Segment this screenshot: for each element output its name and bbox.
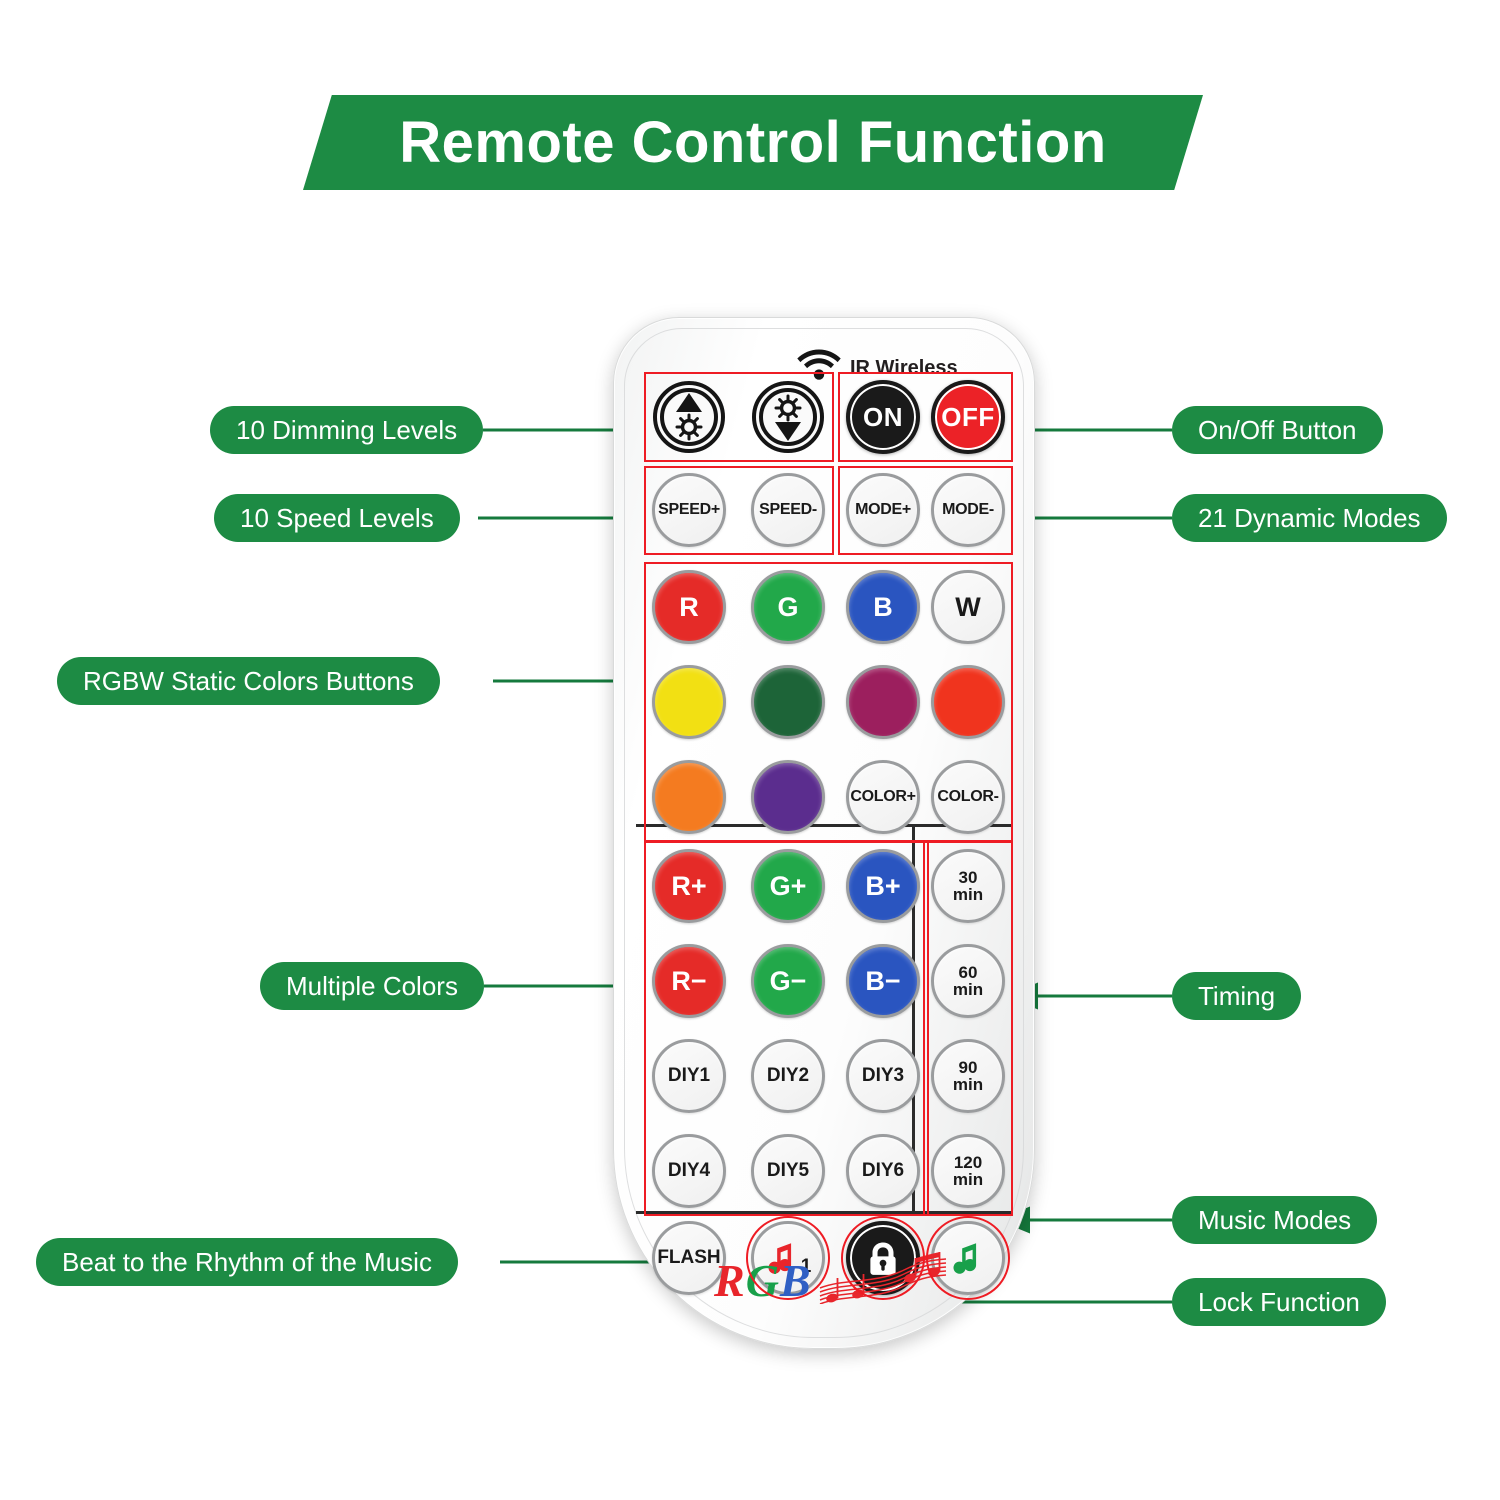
button-r-plus[interactable]: R+ [652, 849, 726, 923]
button-color-green[interactable]: G [751, 570, 825, 644]
callout-timing-label: Timing [1198, 981, 1275, 1012]
button-diy6-label: DIY6 [862, 1160, 904, 1182]
button-diy3-label: DIY3 [862, 1065, 904, 1087]
page-title: Remote Control Function [399, 109, 1106, 176]
button-diy5[interactable]: DIY5 [751, 1134, 825, 1208]
callout-lock-label: Lock Function [1198, 1287, 1360, 1318]
button-flash-label: FLASH [657, 1247, 720, 1269]
button-timer-30[interactable]: 30 min [931, 849, 1005, 923]
button-brightness-down[interactable] [751, 380, 825, 454]
button-power-on[interactable]: ON [846, 380, 920, 454]
callout-static-colors-label: RGBW Static Colors Buttons [83, 666, 414, 697]
button-diy4[interactable]: DIY4 [652, 1134, 726, 1208]
button-g-plus[interactable]: G+ [751, 849, 825, 923]
button-diy5-label: DIY5 [767, 1160, 809, 1182]
button-mode-up[interactable]: MODE+ [846, 473, 920, 547]
button-timer-90-unit: min [953, 1076, 983, 1093]
button-b-plus-label: B+ [865, 871, 900, 902]
button-speed-up-label: SPEED+ [658, 501, 720, 519]
button-timer-90[interactable]: 90 min [931, 1039, 1005, 1113]
button-timer-90-value: 90 [959, 1059, 978, 1076]
callout-music-modes-label: Music Modes [1198, 1205, 1351, 1236]
button-timer-60-unit: min [953, 981, 983, 998]
button-timer-60-value: 60 [959, 964, 978, 981]
button-power-on-label: ON [863, 402, 903, 433]
button-r-minus[interactable]: R− [652, 944, 726, 1018]
rgb-brand-logo: RGB [714, 1254, 812, 1307]
title-banner: Remote Control Function [303, 95, 1203, 190]
callout-multiple-colors-label: Multiple Colors [286, 971, 458, 1002]
button-color-red[interactable]: R [652, 570, 726, 644]
button-diy4-label: DIY4 [668, 1160, 710, 1182]
button-color-dark-green[interactable] [751, 665, 825, 739]
button-timer-120[interactable]: 120 min [931, 1134, 1005, 1208]
button-power-off-label: OFF [941, 402, 995, 433]
callout-music-modes: Music Modes [1172, 1196, 1377, 1244]
button-diy2-label: DIY2 [767, 1065, 809, 1087]
button-diy2[interactable]: DIY2 [751, 1039, 825, 1113]
button-timer-120-value: 120 [954, 1154, 982, 1171]
musical-staff-icon [818, 1248, 948, 1304]
button-r-plus-label: R+ [671, 871, 706, 902]
brightness-down-icon [751, 380, 825, 454]
callout-dynamic-modes: 21 Dynamic Modes [1172, 494, 1447, 542]
button-g-plus-label: G+ [770, 871, 807, 902]
button-timer-120-unit: min [953, 1171, 983, 1188]
button-color-yellow[interactable] [652, 665, 726, 739]
callout-dynamic-modes-label: 21 Dynamic Modes [1198, 503, 1421, 534]
button-power-off[interactable]: OFF [931, 380, 1005, 454]
button-color-up-label: COLOR+ [850, 788, 915, 806]
button-mode-down-label: MODE- [942, 501, 994, 519]
button-brightness-up[interactable] [652, 380, 726, 454]
button-color-green-label: G [777, 592, 798, 623]
button-speed-down[interactable]: SPEED- [751, 473, 825, 547]
button-color-up[interactable]: COLOR+ [846, 760, 920, 834]
infographic-root: Remote Control Function [0, 0, 1500, 1500]
button-r-minus-label: R− [671, 966, 706, 997]
button-color-magenta[interactable] [846, 665, 920, 739]
button-diy1-label: DIY1 [668, 1065, 710, 1087]
callout-music-beat-label: Beat to the Rhythm of the Music [62, 1247, 432, 1278]
callout-timing: Timing [1172, 972, 1301, 1020]
button-color-blue[interactable]: B [846, 570, 920, 644]
callout-music-beat: Beat to the Rhythm of the Music [36, 1238, 458, 1286]
callout-multiple-colors: Multiple Colors [260, 962, 484, 1010]
button-speed-up[interactable]: SPEED+ [652, 473, 726, 547]
callout-speed: 10 Speed Levels [214, 494, 460, 542]
music-note-icon [950, 1238, 990, 1278]
callout-static-colors: RGBW Static Colors Buttons [57, 657, 440, 705]
button-speed-down-label: SPEED- [759, 501, 817, 519]
callout-onoff: On/Off Button [1172, 406, 1383, 454]
button-b-minus-label: B− [865, 966, 900, 997]
button-g-minus[interactable]: G− [751, 944, 825, 1018]
button-timer-30-unit: min [953, 886, 983, 903]
button-color-orange[interactable] [652, 760, 726, 834]
button-timer-60[interactable]: 60 min [931, 944, 1005, 1018]
brightness-up-icon [652, 380, 726, 454]
button-color-white[interactable]: W [931, 570, 1005, 644]
callout-speed-label: 10 Speed Levels [240, 503, 434, 534]
button-timer-30-value: 30 [959, 869, 978, 886]
ir-wireless-label: IR Wireless [850, 358, 958, 381]
rgb-logo-g: G [746, 1255, 780, 1306]
ir-wireless-indicator: IR Wireless [796, 345, 958, 381]
button-b-plus[interactable]: B+ [846, 849, 920, 923]
remote-control-body: IR Wireless [613, 317, 1035, 1349]
rgb-logo-r: R [714, 1255, 746, 1306]
button-color-purple[interactable] [751, 760, 825, 834]
button-color-down[interactable]: COLOR- [931, 760, 1005, 834]
button-color-white-label: W [955, 592, 980, 623]
button-color-red-label: R [679, 592, 699, 623]
callout-dimming: 10 Dimming Levels [210, 406, 483, 454]
section-divider-lower [636, 1211, 1012, 1214]
button-diy3[interactable]: DIY3 [846, 1039, 920, 1113]
button-g-minus-label: G− [770, 966, 807, 997]
button-color-down-label: COLOR- [937, 788, 998, 806]
button-diy1[interactable]: DIY1 [652, 1039, 726, 1113]
wifi-icon [796, 345, 842, 381]
button-color-blue-label: B [873, 592, 893, 623]
button-mode-down[interactable]: MODE- [931, 473, 1005, 547]
button-b-minus[interactable]: B− [846, 944, 920, 1018]
callout-onoff-label: On/Off Button [1198, 415, 1357, 446]
button-diy6[interactable]: DIY6 [846, 1134, 920, 1208]
button-color-red-orange[interactable] [931, 665, 1005, 739]
callout-dimming-label: 10 Dimming Levels [236, 415, 457, 446]
callout-lock: Lock Function [1172, 1278, 1386, 1326]
rgb-logo-b: B [780, 1255, 812, 1306]
button-mode-up-label: MODE+ [855, 501, 911, 519]
